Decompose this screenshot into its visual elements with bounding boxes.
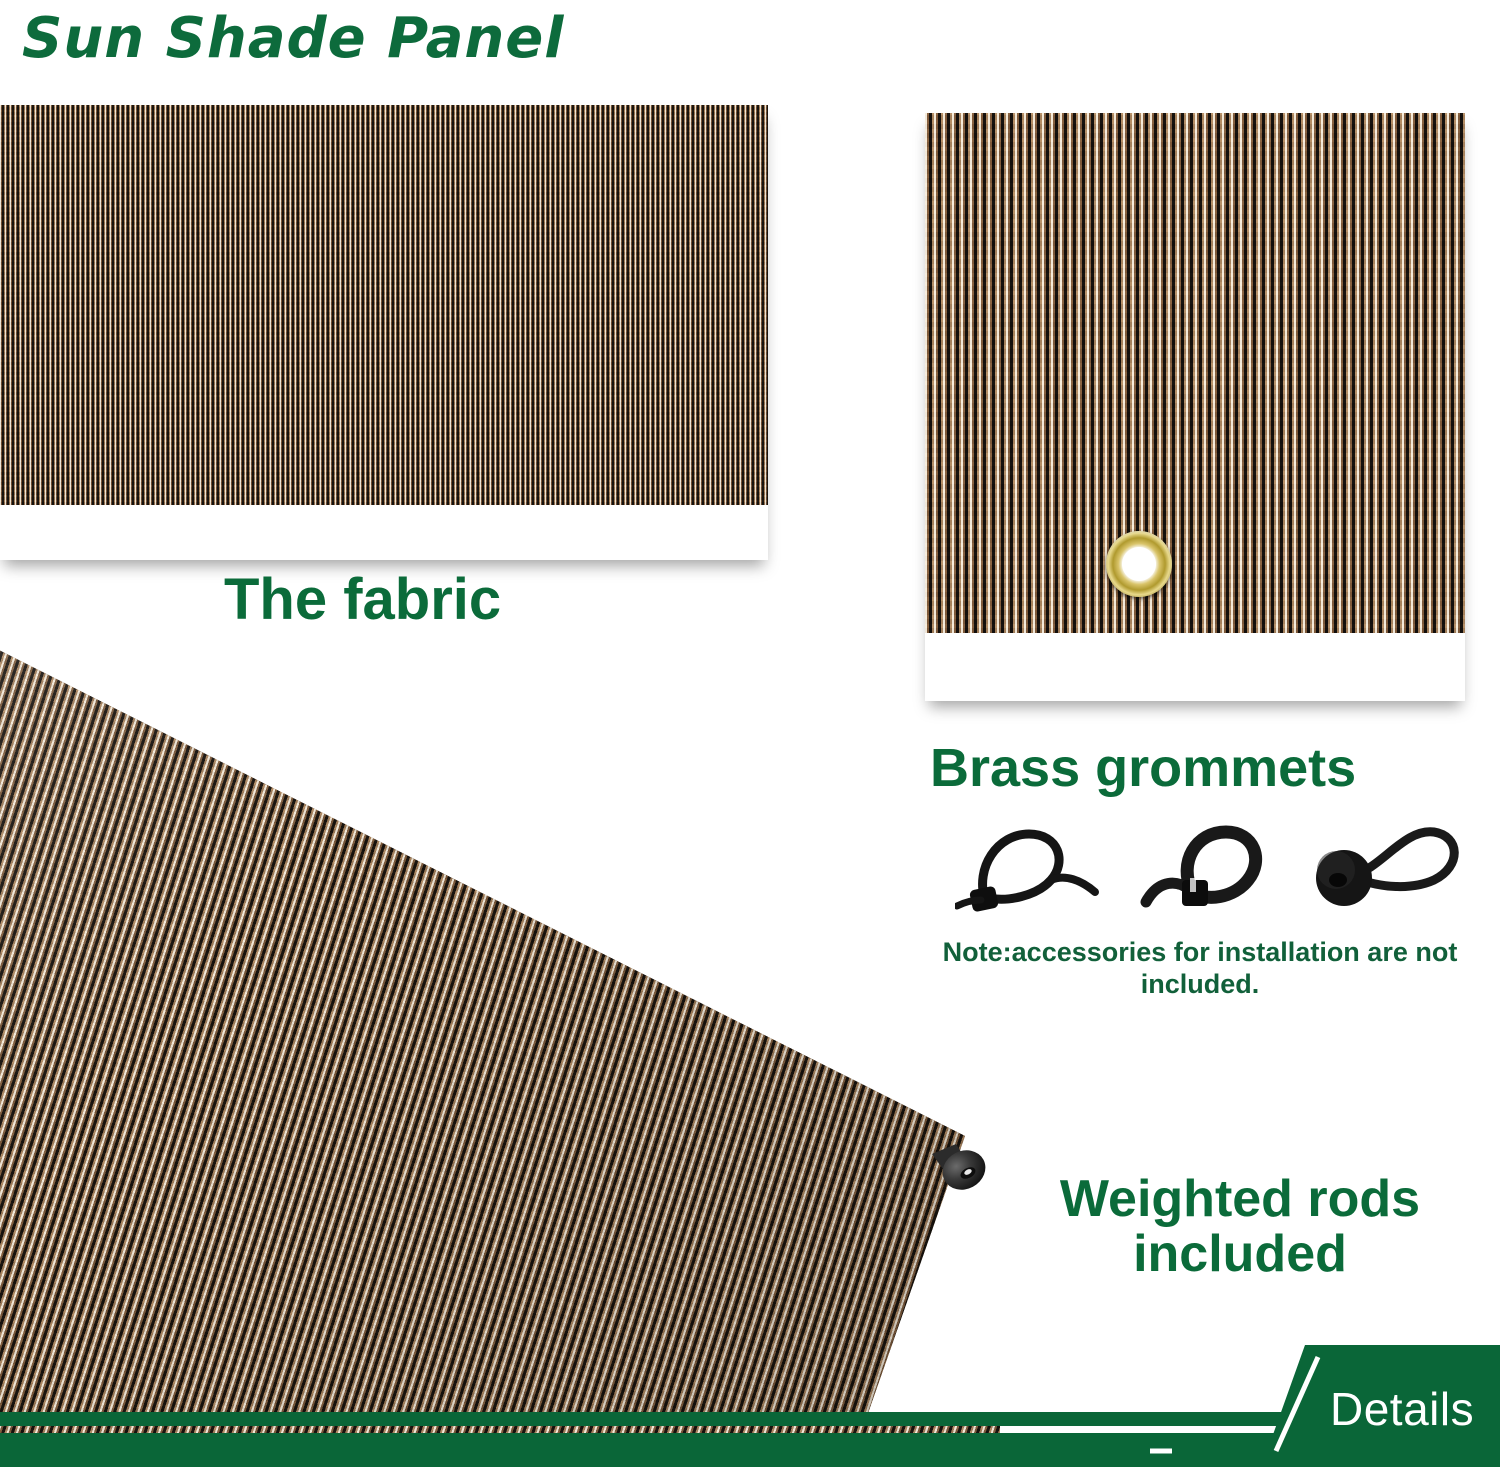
accessories-note: Note:accessories for installation are no… bbox=[940, 936, 1460, 1001]
fabric-swatch-card-left bbox=[0, 105, 768, 560]
label-weighted-rods: Weighted rods included bbox=[1000, 1172, 1480, 1281]
label-the-fabric: The fabric bbox=[224, 570, 501, 631]
panel-shading-overlay bbox=[0, 636, 990, 1436]
banner-fabric-texture bbox=[0, 1426, 1000, 1433]
hook-and-loop-tie-icon bbox=[1130, 818, 1280, 923]
fabric-swatch-photo-left bbox=[0, 105, 768, 505]
main-shade-panel-photo bbox=[0, 636, 990, 1436]
fabric-swatch-photo-right bbox=[925, 113, 1465, 633]
label-brass-grommets: Brass grommets bbox=[930, 740, 1356, 797]
infographic-canvas: Sun Shade Panel bbox=[0, 0, 1500, 1467]
ball-bungee-icon bbox=[1310, 818, 1460, 923]
weighted-rod-end-icon bbox=[930, 1140, 992, 1202]
fabric-texture bbox=[0, 105, 768, 505]
fabric-swatch-card-right bbox=[925, 113, 1465, 701]
page-title: Sun Shade Panel bbox=[22, 6, 564, 71]
details-label: Details bbox=[1330, 1382, 1474, 1436]
brass-grommet-icon bbox=[1106, 531, 1172, 597]
fabric-texture-coarse bbox=[925, 113, 1465, 633]
accessories-row bbox=[955, 818, 1455, 928]
cable-tie-icon bbox=[955, 818, 1105, 923]
